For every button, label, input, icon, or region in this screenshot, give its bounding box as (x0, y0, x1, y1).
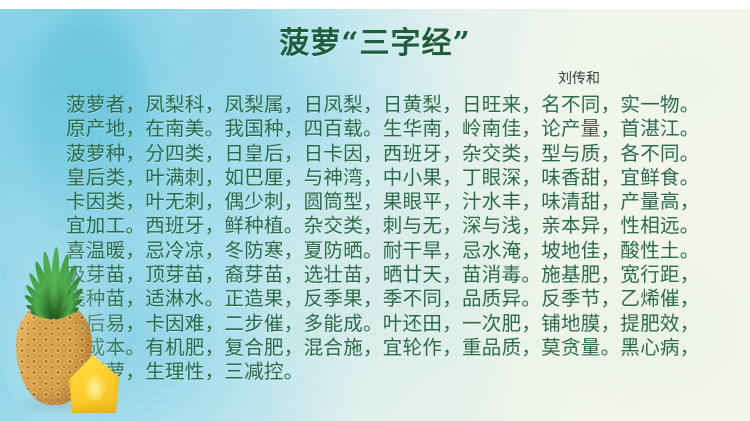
page-title: 菠萝“三字经” (0, 18, 750, 62)
verse-line: 喜温暖，忌冷凉，冬防寒，夏防晒。耐干旱，忌水淹，坡地佳，酸性土。 (66, 239, 734, 263)
verse-line: 原产地，在南美。我国种，四百载。生华南，岭南佳，论产量，首湛江。 (66, 117, 734, 141)
slide-canvas: 菠萝“三字经” 刘传和 菠萝者，凤梨科，凤梨属，日凤梨，日黄梨，日旺来，名不同，… (0, 0, 750, 421)
verse-line: 水菠萝，生理性，三减控。 (66, 360, 734, 384)
verse-line: 菠萝种，分四类，日皇后，日卡因，西班牙，杂交类，型与质，各不同。 (66, 142, 734, 166)
verse-line: 浅种苗，适淋水。正造果，反季果，季不同，品质异。反季节，乙烯催， (66, 287, 734, 311)
author-name: 刘传和 (0, 68, 600, 88)
verse-line: 宜加工。西班牙，鲜种植。杂交类，刺与无，深与浅，亲本异，性相远。 (66, 214, 734, 238)
pineapple-slice-core (84, 373, 106, 401)
top-white-strip (0, 0, 750, 9)
verse-line: 降成本。有机肥，复合肥，混合施，宜轮作，重品质，莫贪量。黑心病， (66, 336, 734, 360)
verse-body: 菠萝者，凤梨科，凤梨属，日凤梨，日黄梨，日旺来，名不同，实一物。 原产地，在南美… (66, 93, 734, 385)
verse-line: 皇后易，卡因难，二步催，多能成。叶还田，一次肥，铺地膜，提肥效， (66, 312, 734, 336)
pineapple-photo (2, 231, 120, 421)
verse-line: 卡因类，叶无刺，偶少刺，圆筒型，果眼平，汁水丰，味清甜，产量高， (66, 190, 734, 214)
verse-line: 吸芽苗，顶芽苗，裔芽苗，选壮苗，晒廿天，苗消毒。施基肥，宽行距， (66, 263, 734, 287)
verse-line: 皇后类，叶满刺，如巴厘，与神湾，中小果，丁眼深，味香甜，宜鲜食。 (66, 166, 734, 190)
verse-line: 菠萝者，凤梨科，凤梨属，日凤梨，日黄梨，日旺来，名不同，实一物。 (66, 93, 734, 117)
